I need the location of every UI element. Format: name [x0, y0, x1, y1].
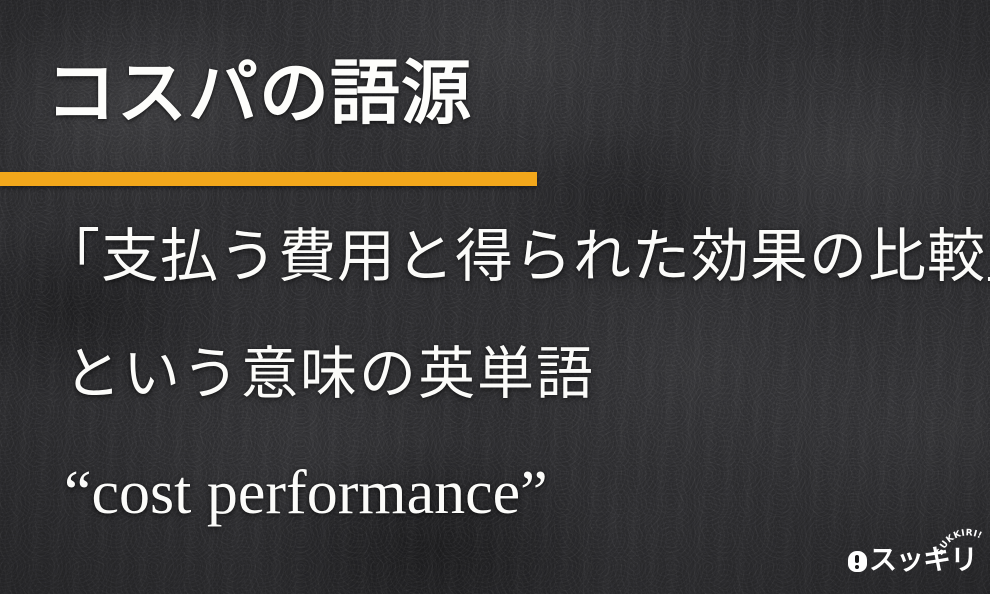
sukkiri-arc-label: SUKKIRI!: [935, 528, 983, 557]
body-line-english: “cost performance”: [64, 462, 548, 524]
sukkiri-ghost-icon: [848, 551, 867, 572]
title-underline-bar: [0, 172, 537, 186]
slide-content: コスパの語源 「支払う費用と得られた効果の比較」 という意味の英単語 “cost…: [0, 0, 990, 594]
chalkboard-slide: コスパの語源 「支払う費用と得られた効果の比較」 という意味の英単語 “cost…: [0, 0, 990, 594]
sukkiri-logo: スッキリ SUKKIRI!: [845, 536, 985, 588]
body-line-quote: 「支払う費用と得られた効果の比較」: [42, 228, 990, 286]
slide-title: コスパの語源: [46, 58, 472, 128]
body-line-meaning: という意味の英単語: [64, 346, 595, 403]
sukkiri-arc-text: SUKKIRI!: [941, 536, 987, 560]
